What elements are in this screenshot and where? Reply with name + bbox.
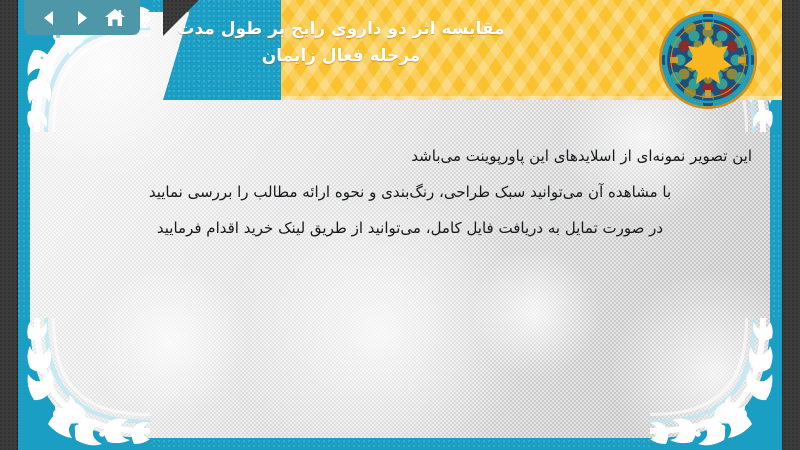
triangle-left-icon — [39, 8, 59, 28]
body-line-1: این تصویر نمونه‌ای از اسلایدهای این پاور… — [58, 138, 762, 174]
body-line-3: در صورت تمایل به دریافت فایل کامل، می‌تو… — [58, 210, 762, 246]
frame-seam-right — [782, 0, 783, 450]
slide-body-text: این تصویر نمونه‌ای از اسلایدهای این پاور… — [58, 138, 762, 246]
presentation-viewer: مقایسه اثر دو داروی رایج بر طول مدت مرحل… — [0, 0, 800, 450]
slide-navigation-toolbar — [24, 0, 140, 35]
light-bokeh-blob — [360, 12, 480, 102]
body-line-2: با مشاهده آن می‌توانید سبک طراحی، رنگ‌بن… — [58, 174, 762, 210]
light-bokeh-blob — [470, 248, 600, 378]
next-slide-button[interactable] — [69, 5, 95, 31]
mandala-medallion-icon — [656, 8, 760, 112]
slide-canvas: مقایسه اثر دو داروی رایج بر طول مدت مرحل… — [18, 0, 782, 450]
light-bokeh-blob — [90, 262, 250, 422]
prev-slide-button[interactable] — [36, 5, 62, 31]
home-button[interactable] — [102, 5, 128, 31]
home-icon — [104, 7, 126, 29]
light-bokeh-blob — [610, 268, 770, 438]
triangle-right-icon — [72, 8, 92, 28]
